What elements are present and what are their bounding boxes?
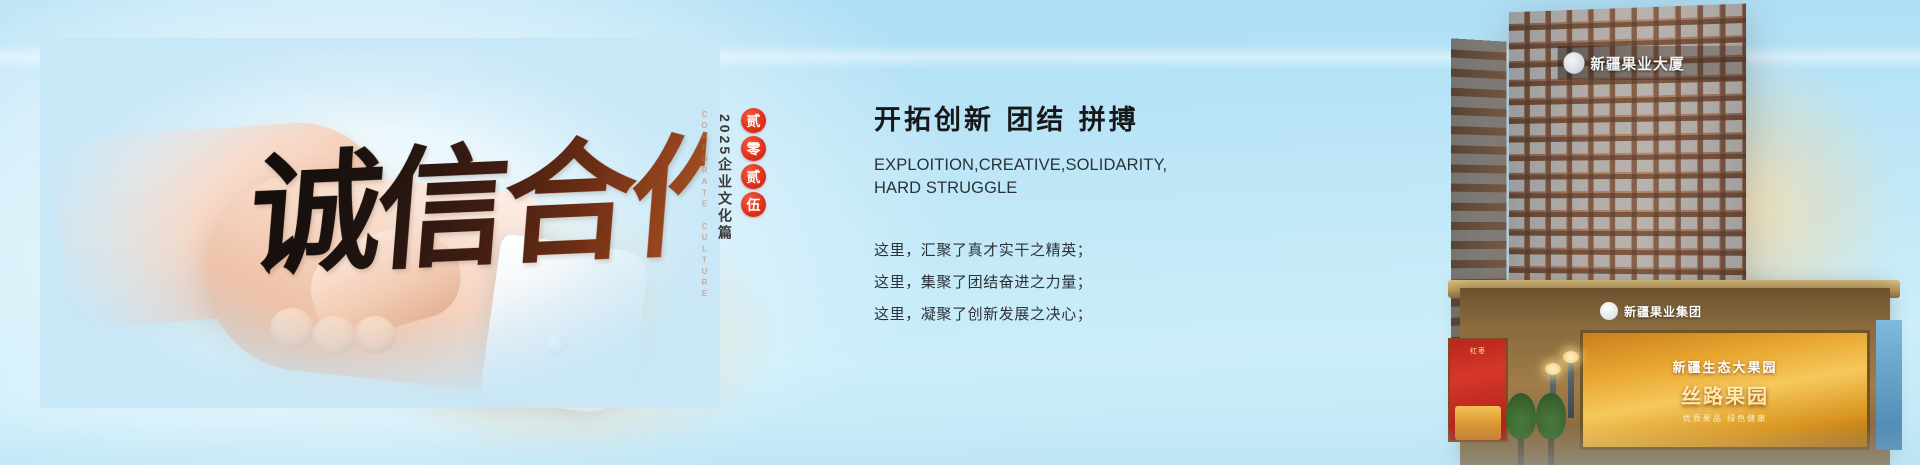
knuckle-3 bbox=[354, 316, 396, 354]
sky-haze-band bbox=[0, 44, 1920, 70]
bottom-fade bbox=[0, 425, 1920, 465]
group-logo-icon bbox=[1600, 302, 1618, 320]
podium-roof bbox=[1448, 280, 1900, 298]
poster-text: 红枣 bbox=[1470, 346, 1486, 356]
side-glass-panel bbox=[1876, 320, 1902, 450]
tower-side-wing bbox=[1451, 38, 1507, 429]
building-photo: 新疆果业大厦 新疆果业集团 红枣 新疆生态大果园 丝路果园 优质果品 绿色健康 bbox=[1300, 0, 1920, 465]
led-billboard: 新疆生态大果园 丝路果园 优质果品 绿色健康 bbox=[1580, 330, 1870, 450]
vertical-english-label: CORPORATE CULTURE bbox=[700, 110, 709, 300]
corporate-culture-banner: 诚信合作 CORPORATE CULTURE 2025企业文化篇 贰 零 贰 伍… bbox=[0, 0, 1920, 465]
street-tree bbox=[1536, 393, 1566, 465]
poster-product-image bbox=[1455, 406, 1501, 440]
english-subtitle-line-1: EXPLOITION,CREATIVE,SOLIDARITY, bbox=[874, 154, 1204, 177]
seal-column: CORPORATE CULTURE 2025企业文化篇 贰 零 贰 伍 bbox=[700, 88, 766, 303]
street-poster: 红枣 bbox=[1448, 338, 1508, 442]
billboard-sub-text: 优质果品 绿色健康 bbox=[1683, 413, 1767, 424]
podium-block bbox=[1460, 288, 1890, 465]
street-lamp bbox=[1568, 360, 1574, 418]
tower-window-glass bbox=[1509, 4, 1746, 433]
seal-stamp: 贰 bbox=[741, 164, 766, 189]
body-line: 这里，集聚了团结奋进之力量； bbox=[874, 267, 1204, 299]
body-line: 这里，凝聚了创新发展之决心； bbox=[874, 299, 1204, 331]
headline-slogan: 开拓创新 团结 拼搏 bbox=[874, 105, 1204, 136]
billboard-headline: 新疆生态大果园 bbox=[1672, 357, 1777, 376]
tower-facade-grid bbox=[1509, 4, 1746, 433]
podium-sign-text: 新疆果业集团 bbox=[1624, 303, 1702, 320]
cuff-button bbox=[546, 334, 568, 356]
company-logo-icon bbox=[1563, 52, 1584, 74]
english-subtitle: EXPLOITION,CREATIVE,SOLIDARITY, HARD STR… bbox=[874, 154, 1204, 201]
tower-signage: 新疆果业大厦 bbox=[1558, 46, 1746, 81]
knuckle-2 bbox=[312, 316, 356, 356]
seal-stamp: 零 bbox=[741, 136, 766, 161]
street-tree bbox=[1506, 393, 1536, 465]
english-subtitle-line-2: HARD STRUGGLE bbox=[874, 177, 1204, 200]
street-lamp bbox=[1550, 372, 1556, 430]
billboard-main-text: 丝路果园 bbox=[1681, 380, 1769, 409]
tower-sign-text: 新疆果业大厦 bbox=[1590, 52, 1684, 73]
seal-stack: 贰 零 贰 伍 bbox=[741, 108, 766, 217]
slogan-text-block: 开拓创新 团结 拼搏 EXPLOITION,CREATIVE,SOLIDARIT… bbox=[874, 105, 1204, 331]
tower-side-windows bbox=[1451, 38, 1507, 429]
podium-signage: 新疆果业集团 bbox=[1600, 302, 1702, 320]
seal-stamp: 贰 bbox=[741, 108, 766, 133]
building-sun-glow bbox=[1600, 55, 1900, 355]
calligraphy-title: 诚信合作 bbox=[242, 76, 711, 315]
body-paragraph: 这里，汇聚了真才实干之精英； 这里，集聚了团结奋进之力量； 这里，凝聚了创新发展… bbox=[874, 235, 1204, 331]
tower-main bbox=[1509, 4, 1746, 433]
body-line: 这里，汇聚了真才实干之精英； bbox=[874, 235, 1204, 267]
vertical-chinese-label: 2025企业文化篇 bbox=[715, 114, 735, 242]
seal-stamp: 伍 bbox=[741, 192, 766, 217]
